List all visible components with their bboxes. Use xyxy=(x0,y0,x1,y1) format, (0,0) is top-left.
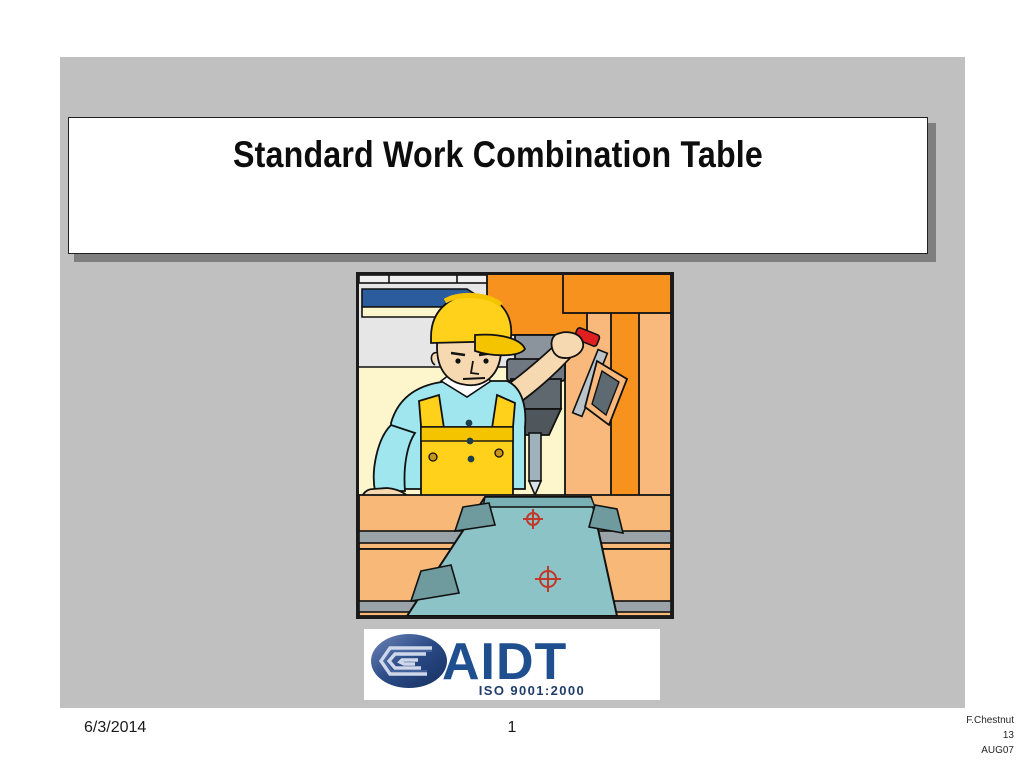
footer-metadata: F.Chestnut 13 AUG07 xyxy=(862,713,1014,758)
footer-author: F.Chestnut xyxy=(862,713,1014,728)
title-placeholder[interactable]: Standard Work Combination Table xyxy=(68,117,928,254)
footer-revision: 13 xyxy=(862,728,1014,743)
footer-revision-date: AUG07 xyxy=(862,743,1014,758)
aidt-logo[interactable]: AIDT ISO 9001:2000 xyxy=(364,629,660,700)
aidt-logo-graphic: AIDT ISO 9001:2000 xyxy=(364,629,660,700)
page-title: Standard Work Combination Table xyxy=(125,132,871,178)
iso-certification-text: ISO 9001:2000 xyxy=(479,683,585,698)
machinist-drill-press-illustration xyxy=(359,275,671,616)
aidt-spiral-emblem xyxy=(371,634,447,688)
clipart-image[interactable] xyxy=(356,272,674,619)
